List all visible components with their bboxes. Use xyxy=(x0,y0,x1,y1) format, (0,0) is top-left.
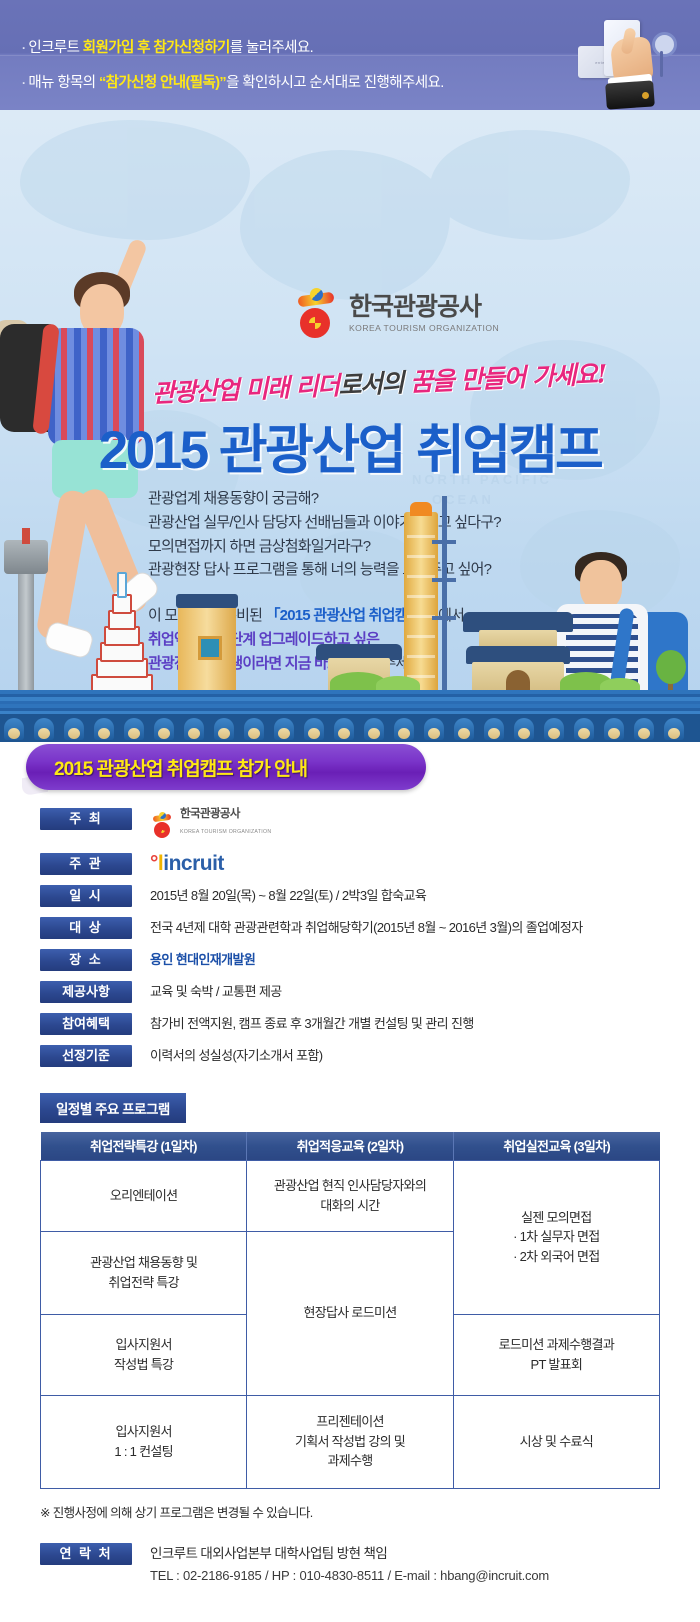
pagoda-icon xyxy=(92,576,152,694)
incruit-dot-icon: ° xyxy=(150,852,158,875)
mast-bar-1 xyxy=(432,540,456,544)
info-row-benefits: 참여혜택 참가비 전액지원, 캠프 종료 후 3개월간 개별 컨설팅 및 관리 … xyxy=(0,1013,700,1035)
info-row-target: 대 상 전국 4년제 대학 관광관련학과 취업해당학기(2015년 8월 ~ 2… xyxy=(0,917,700,939)
program-badge: 일정별 주요 프로그램 xyxy=(40,1093,186,1123)
magnifier-icon xyxy=(652,32,677,57)
incruit-wordmark: incruit xyxy=(163,852,224,875)
chimney-window-icon xyxy=(198,636,222,660)
info-label-date: 일 시 xyxy=(40,885,132,907)
program-note: ※ 진행사정에 의해 상기 프로그램은 변경될 수 있습니다. xyxy=(40,1502,700,1521)
program-table: 취업전략특강 (1일차) 취업적응교육 (2일차) 취업실전교육 (3일차) 오… xyxy=(40,1132,660,1489)
info-value-provisions: 교육 및 숙박 / 교통편 제공 xyxy=(132,981,700,1003)
contact-info: 인크루트 대외사업본부 대학사업팀 방현 책임 TEL : 02-2186-91… xyxy=(132,1543,549,1586)
kto-logo-mark-icon xyxy=(292,288,340,340)
building-roof-flame-icon xyxy=(410,502,432,516)
tree-icon xyxy=(656,650,686,684)
notice-line-1: ·인크루트 회원가입 후 참가신청하기를 눌러주세요. xyxy=(22,36,313,57)
cell-day3-pt: 로드미션 과제수행결과PT 발표회 xyxy=(453,1314,659,1395)
cell-day2-talk: 관광산업 현직 인사담당자와의대화의 시간 xyxy=(247,1160,453,1231)
info-label-organizer: 주 관 xyxy=(40,853,132,875)
magnifier-handle-icon xyxy=(660,51,663,77)
program-header-day3: 취업실전교육 (3일차) xyxy=(453,1132,659,1161)
notice-line2-highlight: “참가신청 안내(필독)” xyxy=(99,75,226,91)
ribbon-label: 2015 관광산업 취업캠프 참가 안내 xyxy=(26,754,307,781)
notice-line1-highlight: 회원가입 후 참가신청하기 xyxy=(83,40,230,56)
info-value-benefits: 참가비 전액지원, 캠프 종료 후 3개월간 개별 컨설팅 및 관리 진행 xyxy=(132,1013,700,1035)
notice-bar: ·인크루트 회원가입 후 참가신청하기를 눌러주세요. ·매뉴 항목의 “참가신… xyxy=(0,0,700,110)
incruit-logo: °lincruit xyxy=(150,853,700,874)
info-value-host: 한국관광공사 KOREA TOURISM ORGANIZATION xyxy=(132,808,700,843)
info-row-organizer: 주 관 °lincruit xyxy=(0,853,700,875)
info-value-organizer: °lincruit xyxy=(132,853,700,874)
river-band xyxy=(0,690,700,716)
contact-team: 인크루트 대외사업본부 대학사업팀 방현 책임 xyxy=(150,1543,549,1565)
info-label-provisions: 제공사항 xyxy=(40,981,132,1003)
cell-day1-consulting: 입사지원서1 : 1 컨설팅 xyxy=(41,1395,247,1488)
info-row-criteria: 선정기준 이력서의 성실성(자기소개서 포함) xyxy=(0,1045,700,1067)
info-value-date: 2015년 8월 20일(목) ~ 8월 22일(토) / 2박3일 합숙교육 xyxy=(132,885,700,907)
info-label-target: 대 상 xyxy=(40,917,132,939)
mast-bar-2 xyxy=(432,578,456,582)
program-table-header-row: 취업전략특강 (1일차) 취업적응교육 (2일차) 취업실전교육 (3일차) xyxy=(41,1132,660,1161)
seoul-skyline-illustration xyxy=(0,504,700,694)
hero-banner: NORTH PACIFIC OCEAN xyxy=(0,110,700,742)
cell-day1-strategy: 관광산업 채용동향 및취업전략 특강 xyxy=(41,1231,247,1314)
cell-day2-presentation: 프리젠테이션기획서 작성법 강의 및과제수행 xyxy=(247,1395,453,1488)
namsan-tower-antenna-icon xyxy=(22,528,30,544)
cell-day2-road-mission: 현장답사 로드미션 xyxy=(247,1231,453,1395)
program-header-day2: 취업적응교육 (2일차) xyxy=(247,1132,453,1161)
mast-bar-3 xyxy=(432,616,456,620)
cell-day3-award: 시상 및 수료식 xyxy=(453,1395,659,1488)
kto-small-name-ko: 한국관광공사 xyxy=(180,808,271,821)
notice-line1-post: 를 눌러주세요. xyxy=(230,40,313,56)
info-label-host: 주 최 xyxy=(40,808,132,830)
kto-logo: 한국관광공사 KOREA TOURISM ORGANIZATION xyxy=(292,288,499,340)
contact-label: 연 락 처 xyxy=(40,1543,132,1565)
cufflink-icon xyxy=(642,92,649,99)
kto-mark-small-icon xyxy=(150,812,174,838)
info-row-provisions: 제공사항 교육 및 숙박 / 교통편 제공 xyxy=(0,981,700,1003)
notice-line1-pre: 인크루트 xyxy=(28,40,82,56)
notice-line2-post: 을 확인하시고 순서대로 진행해주세요. xyxy=(226,75,444,91)
section-ribbon: 2015 관광산업 취업캠프 참가 안내 xyxy=(26,744,426,790)
bullet-icon-2: · xyxy=(22,76,25,90)
poster-root: ·인크루트 회원가입 후 참가신청하기를 눌러주세요. ·매뉴 항목의 “참가신… xyxy=(0,0,700,1622)
hand-pointing-illustration: enter xyxy=(566,8,686,108)
info-value-criteria: 이력서의 성실성(자기소개서 포함) xyxy=(132,1045,700,1067)
info-label-location: 장 소 xyxy=(40,949,132,971)
bullet-icon: · xyxy=(22,41,25,55)
cell-day1-application: 입사지원서작성법 특강 xyxy=(41,1314,247,1395)
cell-day3-mock-interview: 실젠 모의면접· 1차 실무자 면접· 2차 외국어 면접 xyxy=(453,1160,659,1314)
info-value-location: 용인 현대인재개발원 xyxy=(132,949,700,971)
roof-tile-band xyxy=(0,714,700,742)
program-header-day1: 취업전략특강 (1일차) xyxy=(41,1132,247,1161)
info-label-criteria: 선정기준 xyxy=(40,1045,132,1067)
info-section: 주 최 한국관광공사 KOREA TOURISM ORGANIZATION 주 … xyxy=(0,800,700,1067)
info-value-target: 전국 4년제 대학 관광관련학과 취업해당학기(2015년 8월 ~ 2016년… xyxy=(132,917,700,939)
kto-logo-small: 한국관광공사 KOREA TOURISM ORGANIZATION xyxy=(150,808,700,843)
section-ribbon-wrap: 2015 관광산업 취업캠프 참가 안내 xyxy=(0,742,700,800)
contact-section: 연 락 처 인크루트 대외사업본부 대학사업팀 방현 책임 TEL : 02-2… xyxy=(40,1543,700,1612)
info-row-date: 일 시 2015년 8월 20일(목) ~ 8월 22일(토) / 2박3일 합… xyxy=(0,885,700,907)
kto-small-name-en: KOREA TOURISM ORGANIZATION xyxy=(180,821,271,843)
kto-name-en: KOREA TOURISM ORGANIZATION xyxy=(349,323,499,333)
namsan-tower-top-icon xyxy=(4,540,48,574)
table-row: 입사지원서1 : 1 컨설팅 프리젠테이션기획서 작성법 강의 및과제수행 시상… xyxy=(41,1395,660,1488)
info-row-location: 장 소 용인 현대인재개발원 xyxy=(0,949,700,971)
radio-mast-icon xyxy=(442,496,447,694)
chimney-cap-icon xyxy=(176,594,238,608)
notice-line-2: ·매뉴 항목의 “참가신청 안내(필독)”을 확인하시고 순서대로 진행해주세요… xyxy=(22,71,444,92)
tagline-part2: 로서의 xyxy=(338,368,404,400)
tagline-part1: 관광산업 미래 리더 xyxy=(152,371,340,408)
notice-line2-pre: 매뉴 항목의 xyxy=(28,75,99,91)
kto-name-ko: 한국관광공사 xyxy=(349,295,499,320)
info-row-host: 주 최 한국관광공사 KOREA TOURISM ORGANIZATION xyxy=(0,808,700,843)
gyeongbokgung-gate-icon xyxy=(470,606,566,694)
table-row: 오리엔테이션 관광산업 현직 인사담당자와의대화의 시간 실젠 모의면접· 1차… xyxy=(41,1160,660,1231)
contact-details: TEL : 02-2186-9185 / HP : 010-4830-8511 … xyxy=(150,1565,549,1586)
cell-day1-orientation: 오리엔테이션 xyxy=(41,1160,247,1231)
hero-title: 2015 관광산업 취업캠프 xyxy=(0,408,700,484)
info-label-benefits: 참여혜택 xyxy=(40,1013,132,1035)
